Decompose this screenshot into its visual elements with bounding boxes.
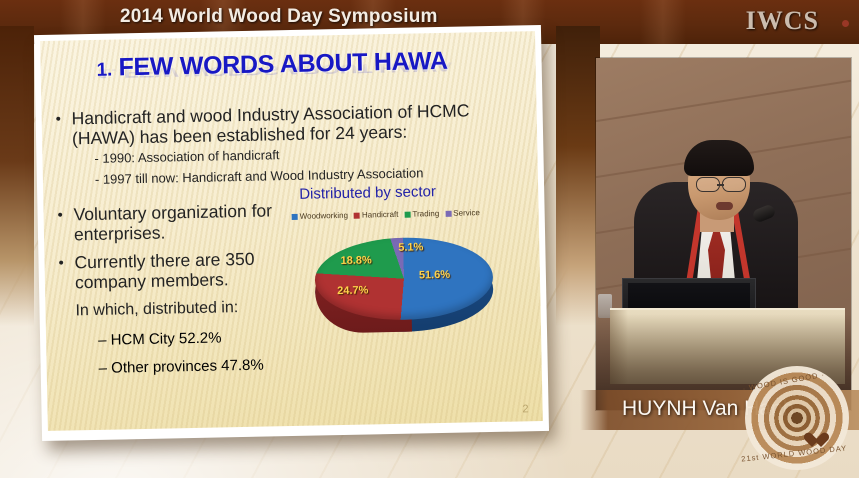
sub-bullet-item: – Other provinces 47.8% — [99, 357, 264, 377]
slide-canvas: 1. FEW WORDS ABOUT HAWA 1. FEW WORDS ABO… — [40, 31, 543, 431]
legend-label: Woodworking — [300, 211, 348, 221]
pie-label-handicraft: 24.7% — [337, 284, 368, 297]
legend-label: Service — [453, 208, 480, 218]
legend-item: Service — [445, 208, 480, 218]
banner-accent-dot — [842, 20, 849, 27]
pie-label-woodworking: 51.6% — [419, 269, 450, 282]
legend-label: Handicraft — [362, 210, 399, 220]
sub-bullet-text: Other provinces 47.8% — [111, 357, 264, 377]
legend-swatch — [292, 213, 298, 219]
bullet-marker: • — [58, 254, 64, 274]
sub-bullet-text: HCM City 52.2% — [110, 329, 221, 348]
legend-item: Woodworking — [292, 211, 348, 221]
sub-bullet-marker: - — [94, 151, 99, 166]
in-which-label: In which, distributed in: — [75, 299, 238, 320]
bullet-item: • Currently there are 350 company member… — [58, 248, 281, 292]
sub-bullet-item: – HCM City 52.2% — [98, 329, 222, 348]
slide-title-reflection-number: 1. — [97, 66, 118, 81]
legend-swatch — [445, 210, 451, 216]
legend-item: Trading — [404, 209, 439, 219]
eyeglass-bridge — [717, 184, 724, 186]
sub-bullet-text: 1990: Association of handicraft — [102, 147, 279, 166]
legend-label: Trading — [412, 209, 439, 219]
speaker-mouth — [716, 202, 733, 210]
laptop-screen — [628, 283, 750, 311]
legend-swatch — [404, 211, 410, 217]
bullet-marker: • — [55, 110, 61, 130]
bullet-item: • Handicraft and wood Industry Associati… — [55, 100, 511, 149]
bullet-item: • Voluntary organization for enterprises… — [57, 200, 273, 244]
banner-title: 2014 World Wood Day Symposium — [120, 6, 438, 28]
right-brown-column — [556, 26, 600, 326]
slide-page-number: 2 — [522, 403, 528, 415]
sub-bullet-item: - 1990: Association of handicraft — [94, 146, 279, 167]
iwcs-logo-text: IWCS — [746, 6, 819, 36]
speaker-hair — [684, 140, 754, 176]
sub-bullet-marker: – — [98, 332, 107, 349]
chart-title: Distributed by sector — [299, 181, 529, 203]
sub-bullet-marker: - — [95, 172, 100, 187]
pie-label-service: 5.1% — [398, 241, 423, 254]
bullet-text: Handicraft and wood Industry Association… — [71, 100, 511, 149]
pie-graphic: 51.6% 24.7% 18.8% 5.1% — [306, 226, 505, 360]
bullet-text: Voluntary organization for enterprises. — [73, 200, 273, 244]
chart-legend: Woodworking Handicraft Trading Service — [292, 208, 480, 221]
pie-chart: Distributed by sector Woodworking Handic… — [291, 181, 525, 376]
presentation-slide: 1. FEW WORDS ABOUT HAWA 1. FEW WORDS ABO… — [34, 25, 549, 441]
left-brown-column — [0, 26, 34, 326]
screenshot-root: 2014 World Wood Day Symposium IWCS 1. FE… — [0, 0, 859, 478]
legend-item: Handicraft — [354, 210, 399, 220]
legend-swatch — [354, 212, 360, 218]
bullet-marker: • — [57, 206, 63, 226]
eyeglass-right — [722, 177, 746, 192]
sub-bullet-marker: – — [99, 360, 108, 377]
pie-label-trading: 18.8% — [340, 254, 371, 267]
bullet-text: Currently there are 350 company members. — [74, 248, 281, 292]
speaker-video-panel[interactable] — [596, 58, 851, 410]
